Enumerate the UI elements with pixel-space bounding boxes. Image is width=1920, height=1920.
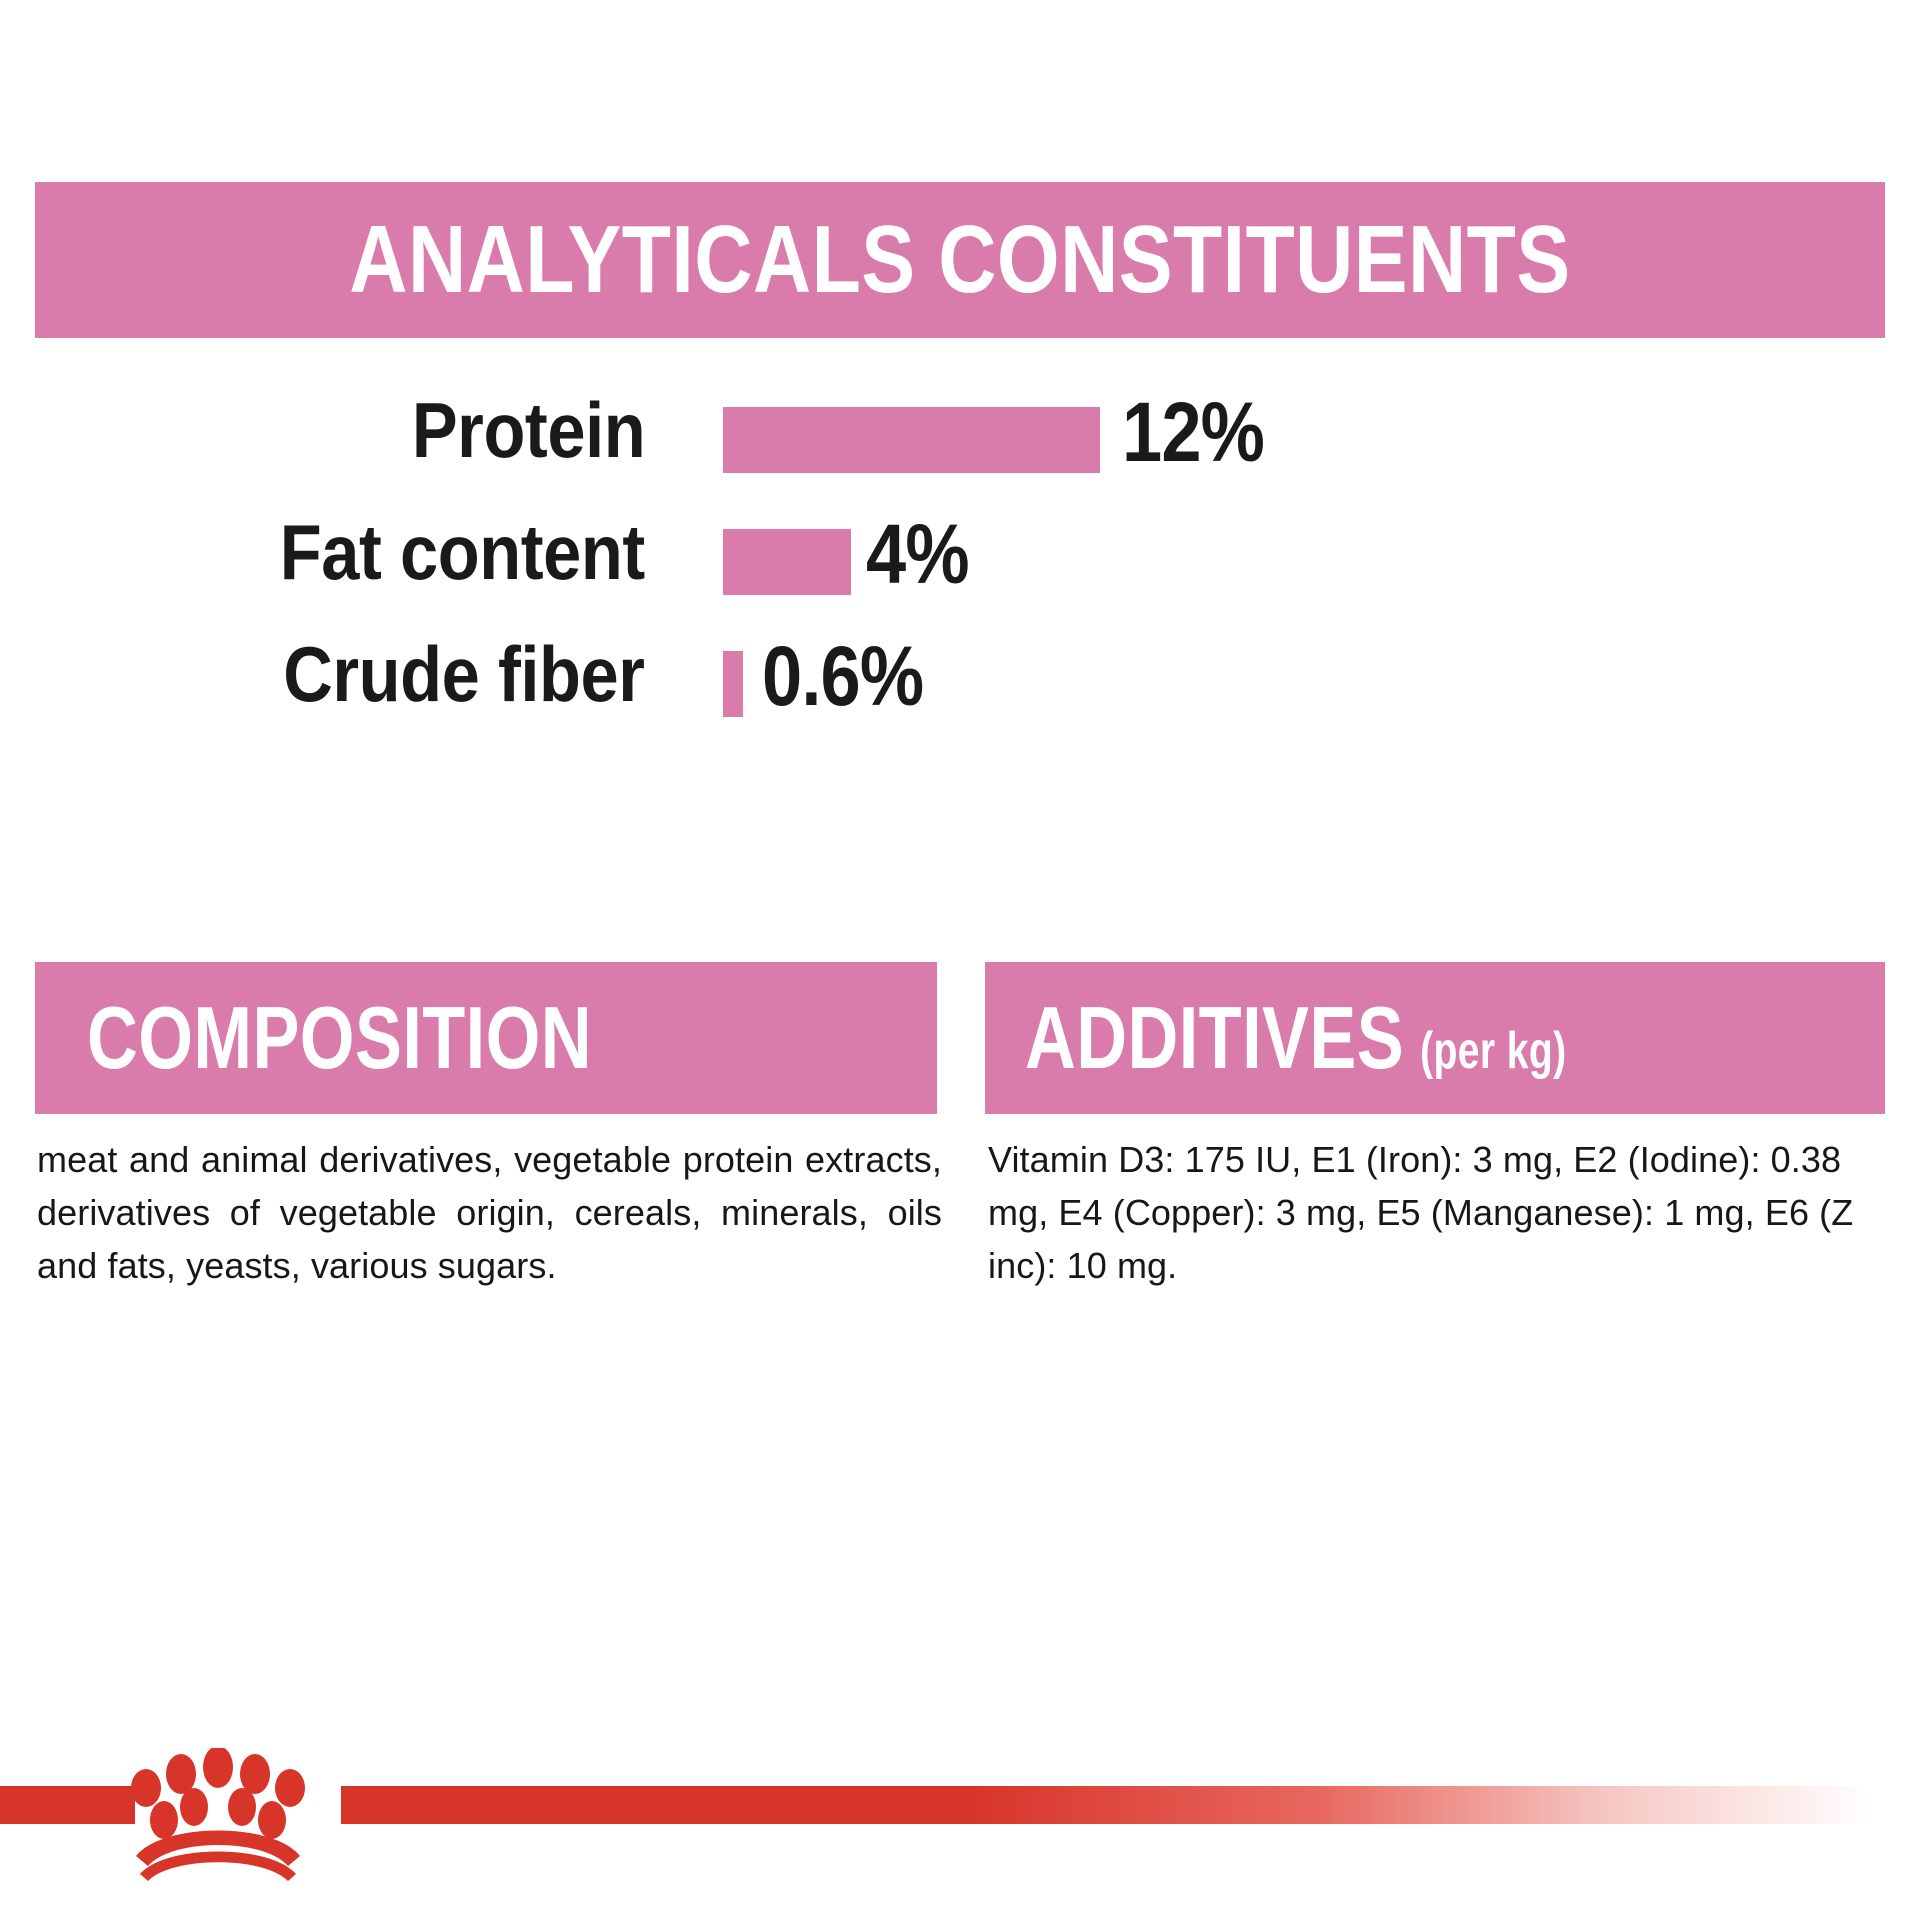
- chart-value-protein: 12%: [1122, 385, 1287, 479]
- additives-header-subtitle: (per kg): [1420, 1025, 1566, 1077]
- analyticals-bar-chart: Protein 12% Fat content 4% Crude fiber 0…: [0, 385, 1920, 735]
- footer-rule-right: [341, 1786, 1920, 1824]
- analyticals-header-title: ANALYTICALS CONSTITUENTS: [349, 212, 1570, 308]
- chart-bar-protein: [723, 407, 1100, 473]
- chart-row-protein: Protein 12%: [0, 385, 1920, 485]
- composition-body-text: meat and animal derivatives, vegetable p…: [37, 1133, 942, 1292]
- chart-bar-crude-fiber: [723, 651, 743, 717]
- additives-body-text: Vitamin D3: 175 IU, E1 (Iron): 3 mg, E2 …: [988, 1133, 1888, 1292]
- chart-row-crude-fiber: Crude fiber 0.6%: [0, 629, 1920, 729]
- royal-canin-crown-logo: [118, 1748, 318, 1883]
- additives-header-title-main: ADDITIVES: [1025, 994, 1404, 1082]
- nutrition-panel: ANALYTICALS CONSTITUENTS Protein 12% Fat…: [0, 0, 1920, 1920]
- chart-row-fat-content: Fat content 4%: [0, 507, 1920, 607]
- composition-header-title: COMPOSITION: [87, 994, 592, 1082]
- chart-value-fat-content: 4%: [866, 507, 985, 601]
- chart-label-fat-content: Fat content: [0, 507, 645, 597]
- additives-header-title: ADDITIVES (per kg): [1025, 994, 1571, 1082]
- chart-label-protein: Protein: [0, 385, 645, 475]
- chart-value-crude-fiber: 0.6%: [762, 629, 949, 723]
- analyticals-header-band: ANALYTICALS CONSTITUENTS: [35, 182, 1885, 338]
- chart-bar-fat-content: [723, 529, 851, 595]
- footer-rule-left: [0, 1786, 135, 1824]
- chart-label-crude-fiber: Crude fiber: [0, 629, 645, 719]
- composition-header-band: COMPOSITION: [35, 962, 937, 1114]
- additives-header-band: ADDITIVES (per kg): [985, 962, 1885, 1114]
